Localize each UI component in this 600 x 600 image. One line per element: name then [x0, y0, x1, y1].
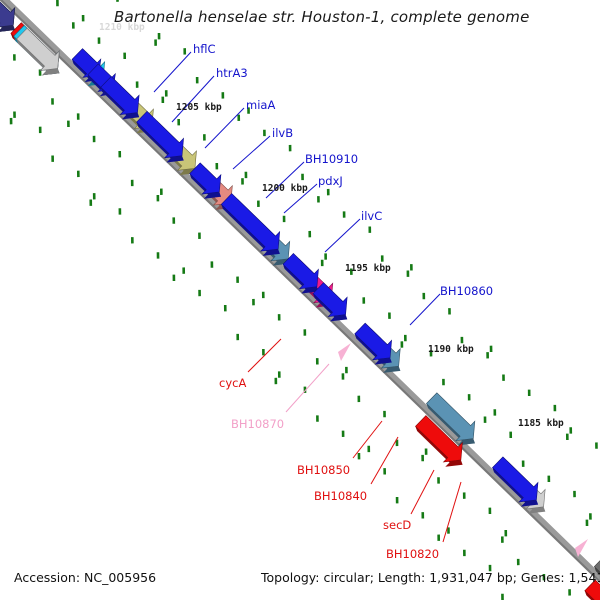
gene-feature-layer[interactable]: hflChtrA3miaAilvBBH10910pdxJilvCcycABH10…	[0, 0, 600, 600]
backbone-shadow	[0, 0, 600, 590]
backbone-line	[0, 0, 600, 588]
gene-label-miaa[interactable]: miaA	[246, 98, 275, 112]
topology-text: Topology: circular; Length: 1,931,047 bp…	[261, 570, 600, 585]
leader-line-ilvc	[325, 219, 360, 252]
gene-label-htra3[interactable]: htrA3	[216, 66, 248, 80]
gene-label-pdxj[interactable]: pdxJ	[318, 174, 343, 188]
leader-line-bh10820	[443, 482, 461, 542]
gene-label-cyca[interactable]: cycA	[219, 376, 246, 390]
gene-label-bh10840[interactable]: BH10840	[314, 489, 367, 503]
gene-label-ilvc[interactable]: ilvC	[361, 209, 382, 223]
leader-line-secd	[411, 470, 434, 514]
gene-label-ilvb[interactable]: ilvB	[272, 126, 293, 140]
ruler-tick-label-2: 1200 kbp	[262, 183, 308, 194]
ruler-tick-label-0: 1210 kbp	[99, 22, 145, 33]
leader-line-cyca	[248, 339, 281, 372]
leader-line-bh10870	[286, 364, 329, 412]
gene-label-bh10850[interactable]: BH10850	[297, 463, 350, 477]
leader-line-ilvb	[233, 136, 270, 169]
ruler-tick-label-1: 1205 kbp	[176, 102, 222, 113]
gene-label-bh10870[interactable]: BH10870	[231, 417, 284, 431]
gene-label-secd[interactable]: secD	[383, 518, 411, 532]
ruler-tick-label-3: 1195 kbp	[345, 263, 391, 274]
page-title: Bartonella henselae str. Houston-1, comp…	[112, 8, 532, 26]
leader-line-htra3	[172, 76, 214, 122]
gene-feature[interactable]	[221, 194, 280, 256]
gene-label-bh10910[interactable]: BH10910	[305, 152, 358, 166]
genome-backbone-line[interactable]	[0, 0, 600, 590]
leader-line-hflc	[154, 52, 191, 92]
genome-map-viewer: hflChtrA3miaAilvBBH10910pdxJilvCcycABH10…	[0, 0, 600, 600]
leader-line-bh10840	[371, 437, 398, 484]
leader-line-miaa	[205, 108, 244, 148]
ruler-tick-label-4: 1190 kbp	[428, 344, 474, 355]
accession-text: Accession: NC_005956	[14, 570, 156, 585]
gene-label-bh10860[interactable]: BH10860	[440, 284, 493, 298]
gene-label-hflc[interactable]: hflC	[193, 42, 216, 56]
strand-tick-marks	[0, 0, 600, 600]
leader-line-bh10850	[353, 421, 382, 458]
pink-arrow-marker[interactable]	[338, 343, 351, 361]
genome-map-canvas[interactable]: hflChtrA3miaAilvBBH10910pdxJilvCcycABH10…	[0, 0, 600, 600]
ruler-tick-label-5: 1185 kbp	[518, 418, 564, 429]
gene-label-bh10820[interactable]: BH10820	[386, 547, 439, 561]
